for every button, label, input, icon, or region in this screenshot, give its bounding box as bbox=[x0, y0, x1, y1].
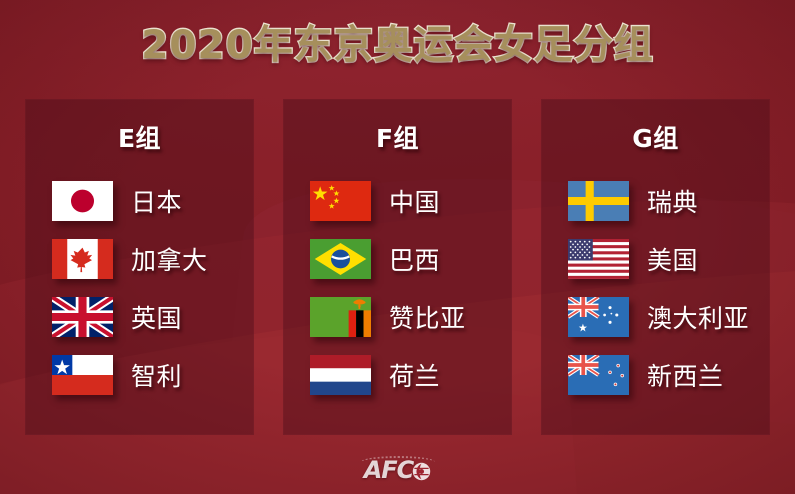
team-row: 瑞典 bbox=[568, 172, 770, 230]
brazil-flag bbox=[310, 239, 371, 279]
team-row: 巴西 bbox=[310, 230, 512, 288]
team-name: 赞比亚 bbox=[389, 299, 466, 335]
group-g-team-list: 瑞典 bbox=[541, 172, 770, 404]
chile-flag bbox=[52, 355, 113, 395]
group-panel-g: G组 瑞典 bbox=[541, 99, 770, 435]
team-row: 新西兰 bbox=[568, 346, 770, 404]
team-name: 智利 bbox=[131, 357, 182, 393]
team-name: 澳大利亚 bbox=[647, 299, 749, 335]
canada-flag bbox=[52, 239, 113, 279]
team-row: 智利 bbox=[52, 346, 254, 404]
team-row: 加拿大 bbox=[52, 230, 254, 288]
group-title-g: G组 bbox=[541, 119, 770, 155]
team-row: 澳大利亚 bbox=[568, 288, 770, 346]
team-row: 赞比亚 bbox=[310, 288, 512, 346]
infographic-root: 2020年东京奥运会女足分组 E组 日本 bbox=[0, 0, 795, 494]
afc-logo-inner: AFC bbox=[364, 456, 432, 484]
team-name: 美国 bbox=[647, 241, 698, 277]
groups-container: E组 日本 bbox=[25, 99, 770, 435]
sweden-flag bbox=[568, 181, 629, 221]
usa-flag bbox=[568, 239, 629, 279]
great-britain-flag bbox=[52, 297, 113, 337]
team-row: 荷兰 bbox=[310, 346, 512, 404]
group-panel-f: F组 中国 bbox=[283, 99, 512, 435]
team-name: 新西兰 bbox=[647, 357, 724, 393]
team-name: 巴西 bbox=[389, 241, 440, 277]
team-name: 加拿大 bbox=[131, 241, 208, 277]
group-title-e: E组 bbox=[25, 119, 254, 155]
japan-flag bbox=[52, 181, 113, 221]
group-f-team-list: 中国 巴西 bbox=[283, 172, 512, 404]
zambia-flag bbox=[310, 297, 371, 337]
team-name: 瑞典 bbox=[647, 183, 698, 219]
team-name: 日本 bbox=[131, 183, 182, 219]
afc-arc-decoration bbox=[361, 456, 435, 468]
team-row: 英国 bbox=[52, 288, 254, 346]
team-name: 中国 bbox=[389, 183, 440, 219]
group-title-f: F组 bbox=[283, 119, 512, 155]
china-flag bbox=[310, 181, 371, 221]
group-panel-e: E组 日本 bbox=[25, 99, 254, 435]
group-e-team-list: 日本 加拿大 bbox=[25, 172, 254, 404]
australia-flag bbox=[568, 297, 629, 337]
team-row: 美国 bbox=[568, 230, 770, 288]
title-container: 2020年东京奥运会女足分组 bbox=[0, 14, 795, 70]
afc-logo: AFC bbox=[0, 456, 795, 484]
team-name: 英国 bbox=[131, 299, 182, 335]
netherlands-flag bbox=[310, 355, 371, 395]
new-zealand-flag bbox=[568, 355, 629, 395]
team-row: 中国 bbox=[310, 172, 512, 230]
page-title: 2020年东京奥运会女足分组 bbox=[141, 14, 654, 70]
team-row: 日本 bbox=[52, 172, 254, 230]
team-name: 荷兰 bbox=[389, 357, 440, 393]
